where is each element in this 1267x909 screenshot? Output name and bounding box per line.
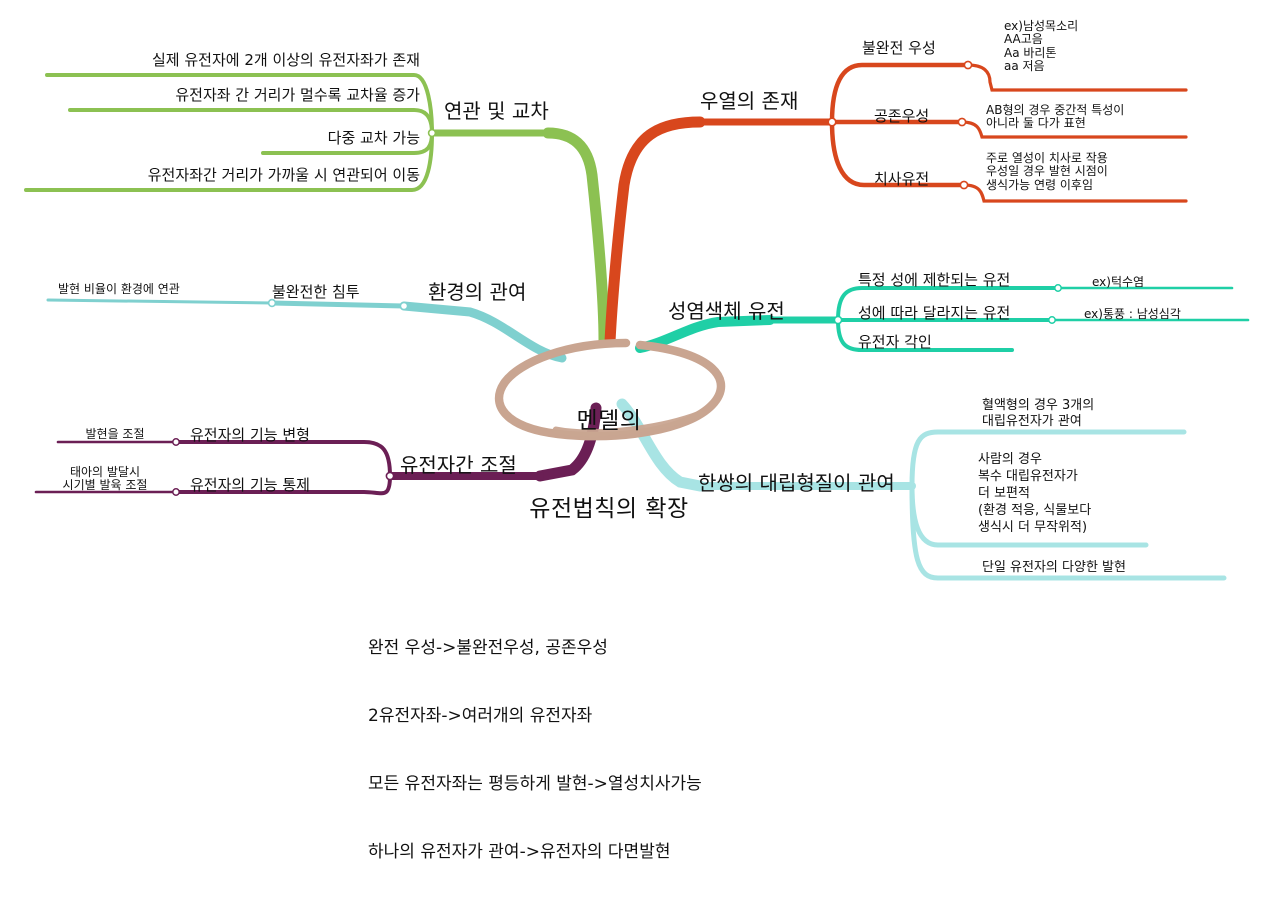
summary-text-block: 완전 우성->불완전우성, 공존우성 2유전자좌->여러개의 유전자좌 모든 유… [368,592,702,909]
branch-child-regulation-1-detail[interactable]: 발현을 조절 [85,428,144,441]
central-topic-line1: 멘델의 [500,407,718,436]
branch-child-dominance-2-detail[interactable]: AB형의 경우 중간적 특성이 아니라 둘 다가 표현 [986,104,1124,131]
branch-child-sex-2-detail[interactable]: ex)통풍 : 남성심각 [1084,308,1181,321]
branch-label-dominance[interactable]: 우열의 존재 [700,90,798,112]
branch-child-sex-3[interactable]: 유전자 각인 [858,334,932,351]
branch-child-linkage-1[interactable]: 실제 유전자에 2개 이상의 유전자좌가 존재 [152,52,420,69]
mindmap-canvas: 멘델의 유전법칙의 확장 연관 및 교차 실제 유전자에 2개 이상의 유전자좌… [0,0,1267,701]
branch-label-linkage-crossover[interactable]: 연관 및 교차 [444,100,549,122]
summary-line-1: 완전 우성->불완전우성, 공존우성 [368,637,702,660]
branch-child-dominance-2[interactable]: 공존우성 [874,108,929,125]
branch-child-dominance-1-detail[interactable]: ex)남성목소리 AA고음 Aa 바리톤 aa 저음 [1004,20,1078,74]
branch-child-linkage-3[interactable]: 다중 교차 가능 [328,130,420,147]
branch-child-dominance-3-detail[interactable]: 주로 열성이 치사로 작용 우성일 경우 발현 시점이 생식가능 연령 이후임 [986,152,1108,192]
branch-environment [48,300,562,358]
summary-line-3: 모든 유전자좌는 평등하게 발현->열성치사가능 [368,773,702,796]
branch-label-allele-pair[interactable]: 한쌍의 대립형질이 관여 [698,472,895,494]
central-topic[interactable]: 멘델의 유전법칙의 확장 [500,348,718,584]
branch-label-environment[interactable]: 환경의 관여 [428,281,526,303]
branch-label-sex-chromosome[interactable]: 성염색체 유전 [668,300,785,322]
central-topic-line2: 유전법칙의 확장 [500,495,718,524]
branch-child-dominance-1[interactable]: 불완전 우성 [862,40,936,57]
branch-child-allele-2[interactable]: 사람의 경우 복수 대립유전자가 더 보편적 (환경 적응, 식물보다 생식시 … [978,452,1091,536]
branch-child-linkage-2[interactable]: 유전자좌 간 거리가 멀수록 교차율 증가 [175,87,420,104]
branch-child-allele-1[interactable]: 혈액형의 경우 3개의 대립유전자가 관여 [982,398,1094,431]
summary-line-2: 2유전자좌->여러개의 유전자좌 [368,705,702,728]
branch-child-environment-1-detail[interactable]: 발현 비율이 환경에 연관 [58,283,180,296]
branch-child-environment-1[interactable]: 불완전한 침투 [272,284,360,301]
branch-child-linkage-4[interactable]: 유전자좌간 거리가 가까울 시 연관되어 이동 [148,167,420,184]
branch-child-sex-1[interactable]: 특정 성에 제한되는 유전 [858,272,1010,289]
branch-child-regulation-2[interactable]: 유전자의 기능 통제 [190,477,310,494]
branch-child-dominance-3[interactable]: 치사유전 [874,171,929,188]
branch-label-gene-regulation[interactable]: 유전자간 조절 [400,454,517,476]
branch-child-sex-2[interactable]: 성에 따라 달라지는 유전 [858,305,1010,322]
summary-line-4: 하나의 유전자가 관여->유전자의 다면발현 [368,841,702,864]
branch-child-regulation-1[interactable]: 유전자의 기능 변형 [190,427,310,444]
branch-child-sex-1-detail[interactable]: ex)턱수염 [1092,276,1144,289]
branch-child-regulation-2-detail[interactable]: 태아의 발달시 시기별 발육 조절 [63,466,148,493]
branch-child-allele-3[interactable]: 단일 유전자의 다양한 발현 [982,561,1126,576]
